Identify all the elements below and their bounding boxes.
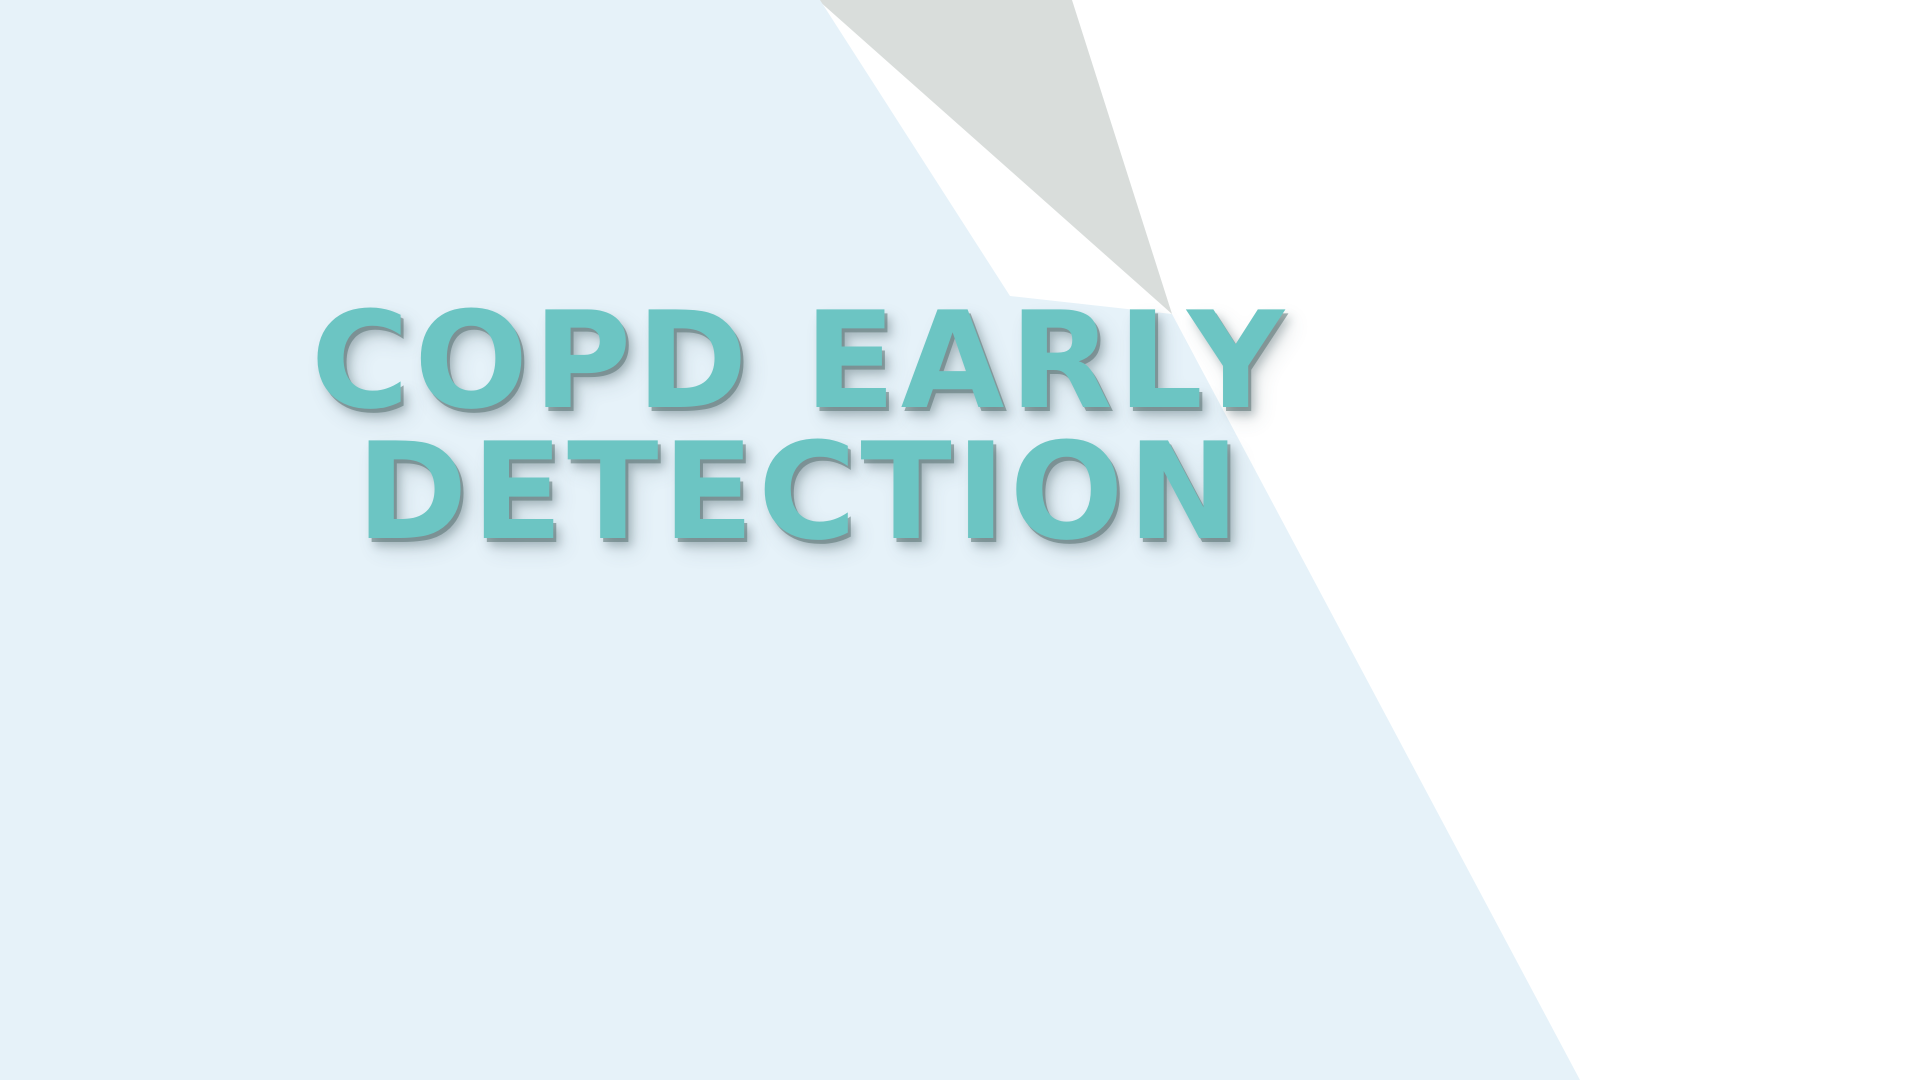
title-line-1: COPD EARLY <box>0 296 1600 427</box>
title-line-2: DETECTION <box>0 427 1600 558</box>
slide-title: COPD EARLY DETECTION <box>0 296 1600 559</box>
slide-canvas: COPD EARLY DETECTION <box>0 0 1920 1080</box>
